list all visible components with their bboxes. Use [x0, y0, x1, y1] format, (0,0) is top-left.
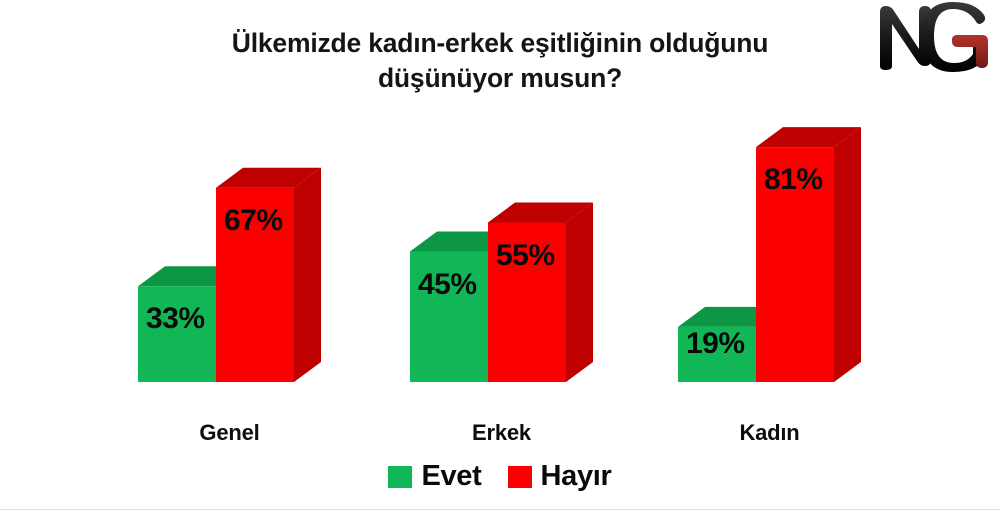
- bar-value-label: 19%: [686, 327, 770, 361]
- bar-side-face: [294, 168, 321, 382]
- bar-value-label: 67%: [224, 204, 308, 238]
- legend-label-evet: Evet: [421, 462, 481, 491]
- legend-swatch-hayir: [508, 466, 532, 488]
- bar-value-label: 33%: [146, 302, 230, 336]
- category-label-genel: Genel: [118, 420, 341, 446]
- category-label-kadin: Kadın: [658, 420, 881, 446]
- bar-side-face: [566, 203, 593, 383]
- category-label-erkek: Erkek: [390, 420, 613, 446]
- legend-item-evet[interactable]: Evet: [388, 462, 481, 491]
- bar-value-label: 55%: [496, 239, 580, 273]
- bar-value-label: 45%: [418, 268, 502, 302]
- plot-area: 33% 67% 45% 55% 19% 81% Genel Erkek Kadı…: [0, 0, 1000, 510]
- legend-label-hayir: Hayır: [541, 462, 612, 491]
- legend-swatch-evet: [388, 466, 412, 488]
- chart-legend: Evet Hayır: [0, 462, 1000, 491]
- chart-container: Ülkemizde kadın-erkek eşitliğinin olduğu…: [0, 0, 1000, 509]
- bar-value-label: 81%: [764, 163, 848, 197]
- legend-item-hayir[interactable]: Hayır: [508, 462, 612, 491]
